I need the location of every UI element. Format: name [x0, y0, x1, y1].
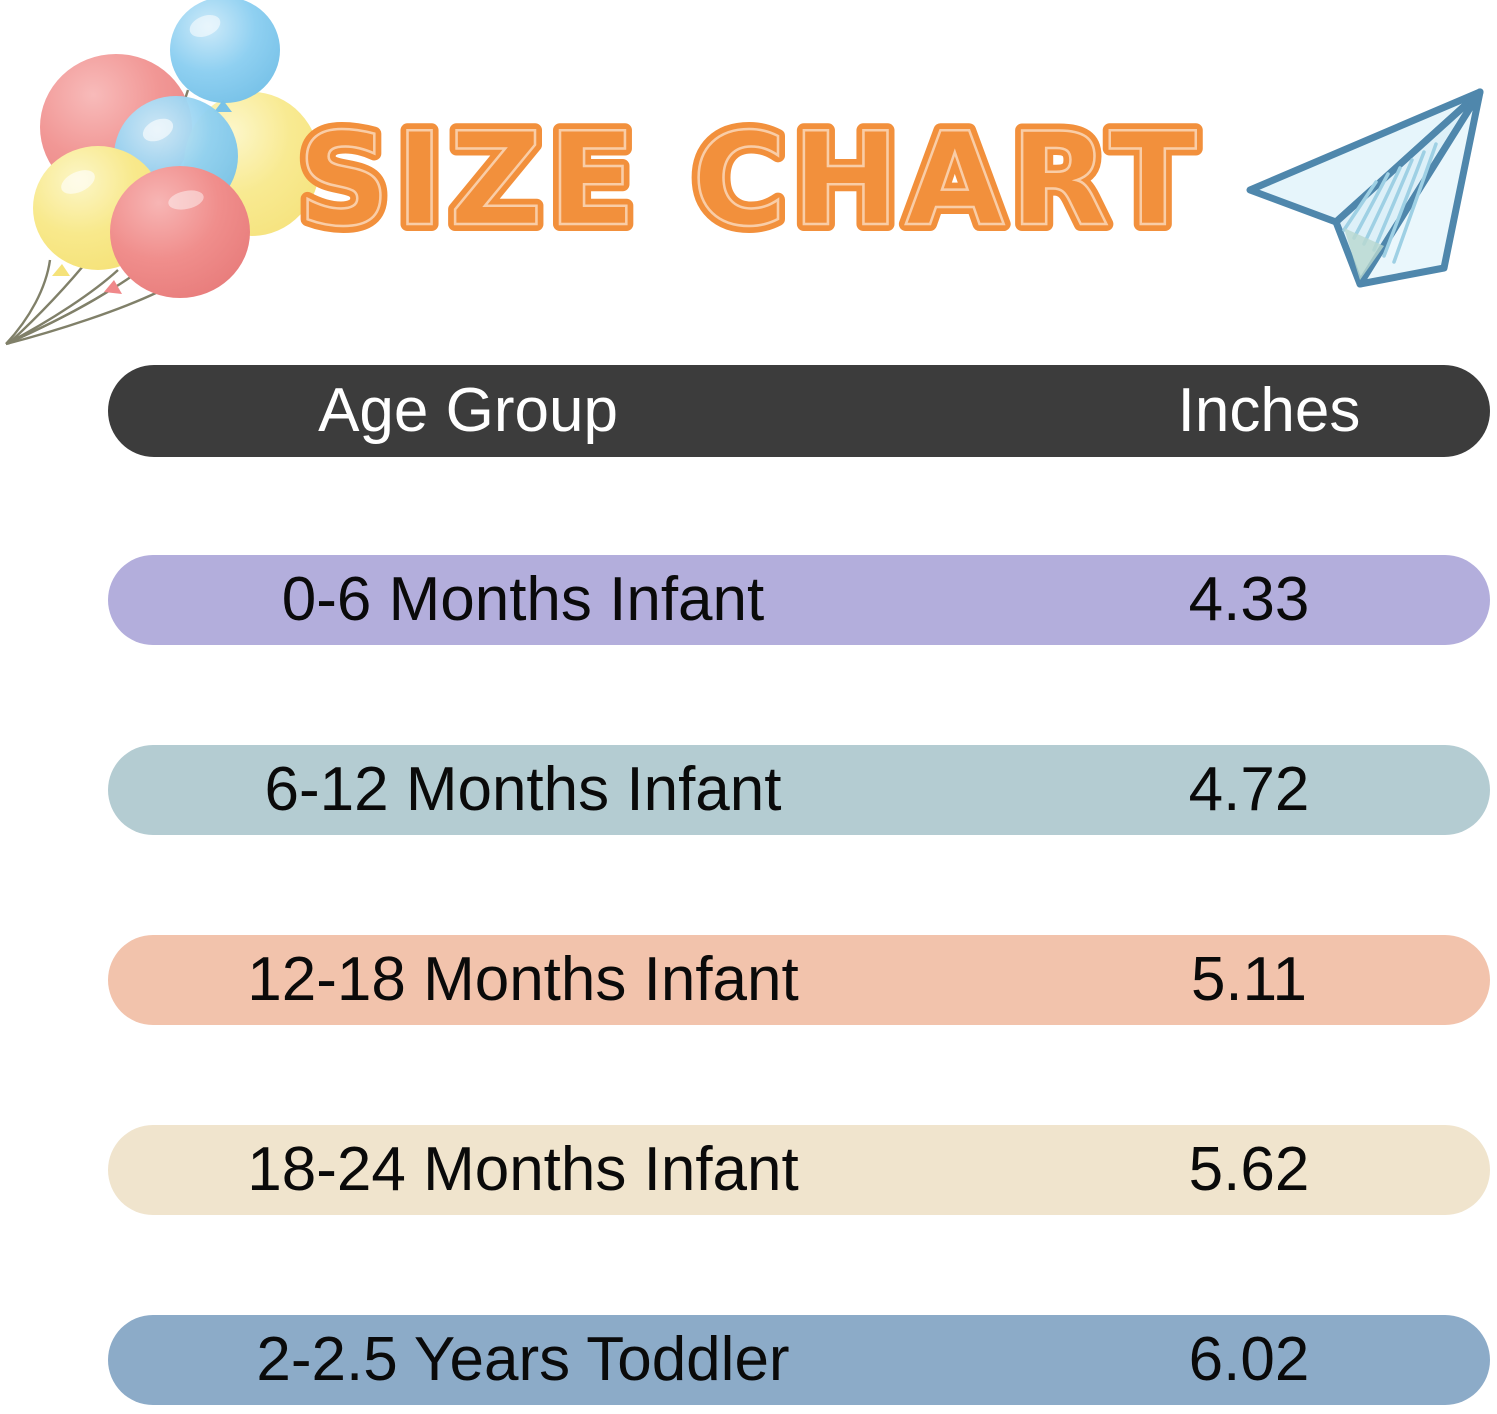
- table-row: 6-12 Months Infant 4.72: [108, 745, 1490, 835]
- paper-airplane-icon: [1232, 78, 1492, 298]
- page-title: SIZE CHART SIZE CHART: [300, 112, 1200, 262]
- cell-age-group: 18-24 Months Infant: [108, 1139, 1098, 1201]
- table-row: 0-6 Months Infant 4.33: [108, 555, 1490, 645]
- cell-age-group: 12-18 Months Infant: [108, 949, 1098, 1011]
- table-header-row: Age Group Inches: [108, 365, 1490, 457]
- table-row: 12-18 Months Infant 5.11: [108, 935, 1490, 1025]
- cell-inches: 6.02: [1098, 1329, 1490, 1391]
- cell-inches: 5.11: [1098, 949, 1490, 1011]
- table-row: 2-2.5 Years Toddler 6.02: [108, 1315, 1490, 1405]
- size-chart-page: SIZE CHART SIZE CHART Age Group Inches 0…: [0, 0, 1497, 1414]
- column-header-inches: Inches: [1098, 380, 1490, 442]
- table-row: 18-24 Months Infant 5.62: [108, 1125, 1490, 1215]
- column-header-age-group: Age Group: [108, 380, 1098, 442]
- page-title-gloss: SIZE CHART: [298, 106, 1203, 255]
- cell-inches: 4.72: [1098, 759, 1490, 821]
- cell-inches: 5.62: [1098, 1139, 1490, 1201]
- cell-age-group: 6-12 Months Infant: [108, 759, 1098, 821]
- size-chart-table: Age Group Inches 0-6 Months Infant 4.33 …: [108, 365, 1490, 1405]
- cell-inches: 4.33: [1098, 569, 1490, 631]
- cell-age-group: 2-2.5 Years Toddler: [108, 1329, 1098, 1391]
- cell-age-group: 0-6 Months Infant: [108, 569, 1098, 631]
